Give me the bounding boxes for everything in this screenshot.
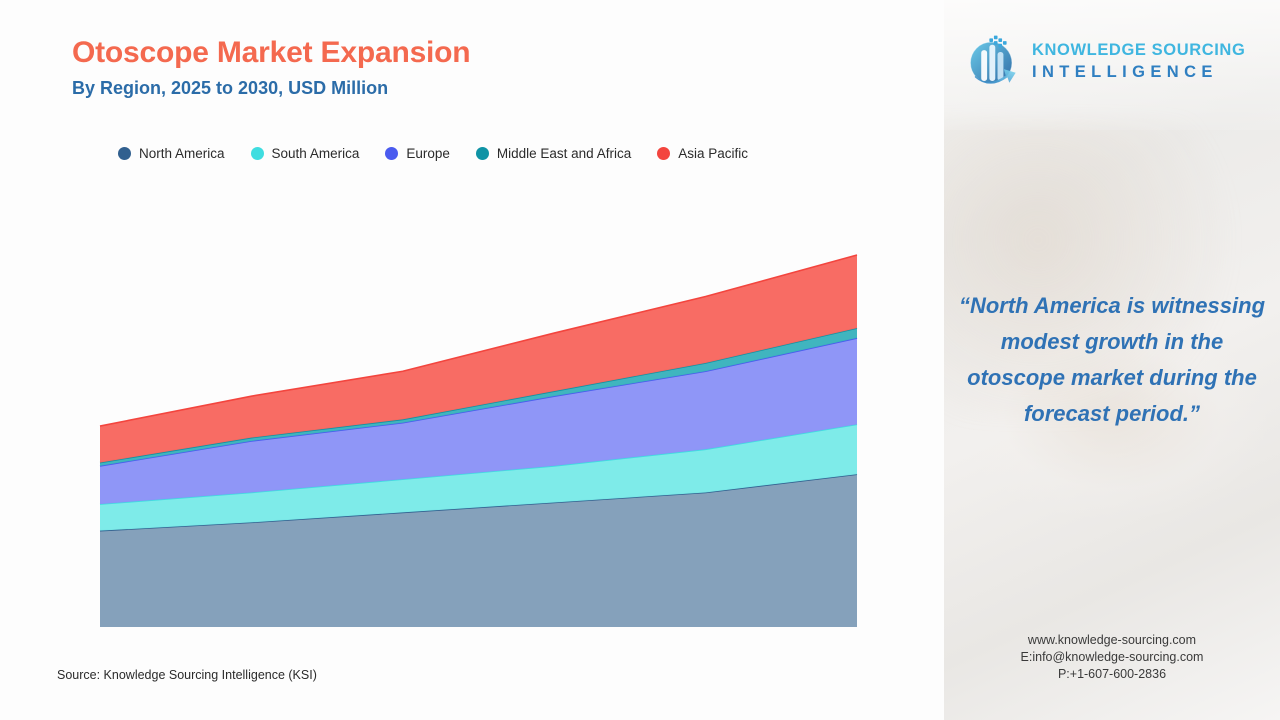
chart-panel: Otoscope Market Expansion By Region, 202…	[0, 0, 944, 720]
source-note: Source: Knowledge Sourcing Intelligence …	[57, 668, 317, 682]
bar-chart-arrow-circle-icon	[964, 32, 1022, 90]
contact-phone[interactable]: P:+1-607-600-2836	[952, 666, 1272, 683]
logo-line-2: INTELLIGENCE	[1032, 64, 1245, 81]
stacked-area-chart	[0, 0, 944, 700]
contact-email[interactable]: E:info@knowledge-sourcing.com	[952, 649, 1272, 666]
highlight-quote: “North America is witnessing modest grow…	[952, 288, 1272, 432]
brand-panel: KNOWLEDGE SOURCING INTELLIGENCE “North A…	[944, 0, 1280, 720]
logo-wordmark: KNOWLEDGE SOURCING INTELLIGENCE	[1032, 42, 1245, 81]
infographic-root: Otoscope Market Expansion By Region, 202…	[0, 0, 1280, 720]
logo-line-1: KNOWLEDGE SOURCING	[1032, 42, 1245, 59]
contact-website[interactable]: www.knowledge-sourcing.com	[952, 632, 1272, 649]
brand-logo[interactable]: KNOWLEDGE SOURCING INTELLIGENCE	[964, 32, 1245, 90]
chart-svg	[0, 0, 944, 700]
contact-block: www.knowledge-sourcing.com E:info@knowle…	[952, 632, 1272, 683]
